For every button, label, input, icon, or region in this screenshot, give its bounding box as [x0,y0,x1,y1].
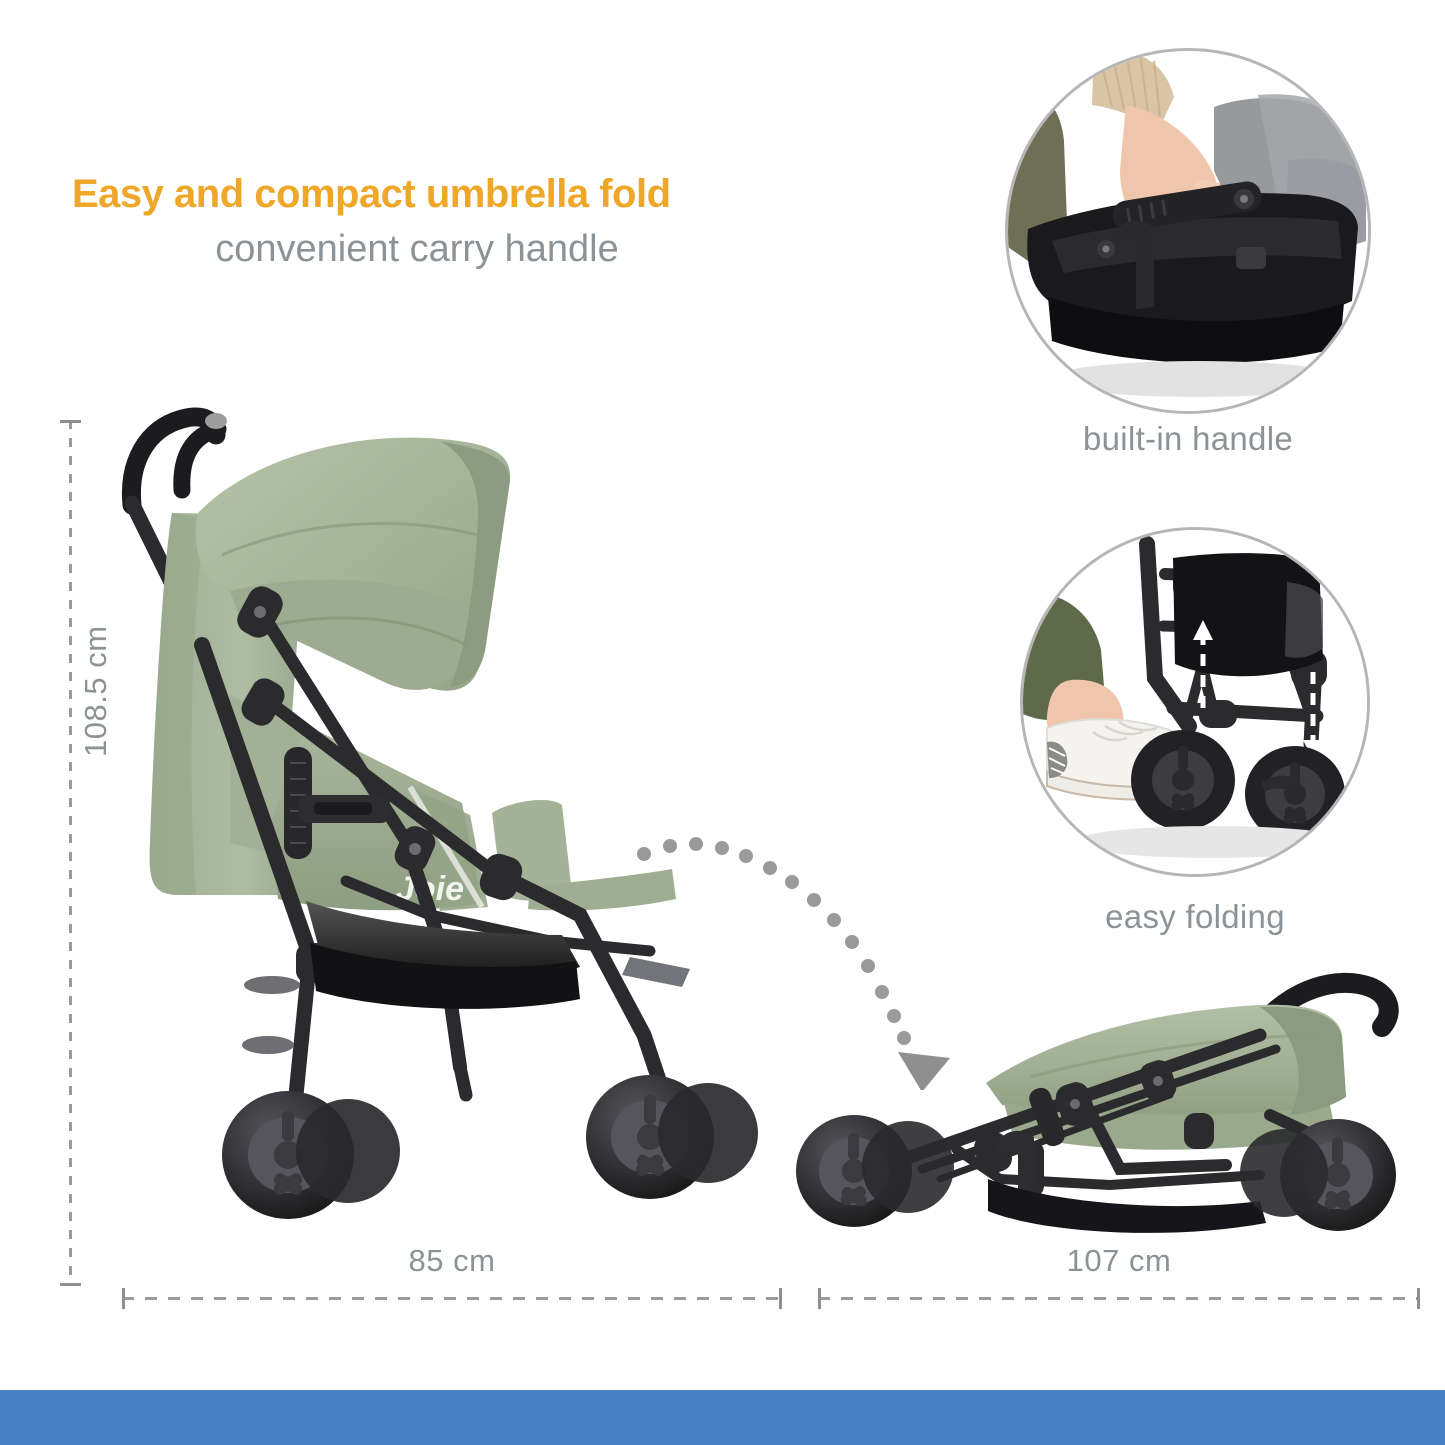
caption-built-in-handle: built-in handle [1000,420,1376,458]
caption-easy-folding: easy folding [1020,898,1370,936]
inset-built-in-handle [1005,48,1371,414]
folded-width-dimension-line [818,1297,1420,1300]
dimension-cap-top [60,420,81,423]
brake-pedal-front [242,1036,294,1054]
page-title: Easy and compact umbrella fold [72,172,832,216]
handle-bars [131,417,218,505]
dimension-cap-left [818,1288,821,1309]
height-dimension-line [69,420,72,1286]
open-width-dimension-label: 85 cm [122,1243,782,1279]
page-subtitle: convenient carry handle [72,226,762,274]
stroller-folded-side-view [790,965,1410,1240]
inset-easy-folding [1020,527,1370,877]
dimension-cap-left [122,1288,125,1309]
infographic-canvas: Easy and compact umbrella fold convenien… [0,0,1445,1445]
folded-wheel-front [796,1115,954,1227]
height-dimension-label: 108.5 cm [78,625,114,757]
wheel-front [222,1091,400,1219]
open-width-dimension-line [122,1297,782,1300]
brake-pedal-rear [244,976,300,994]
folded-width-dimension-label: 107 cm [818,1243,1420,1279]
handle-end-cap [205,413,227,429]
wheel-rear [586,1075,758,1199]
inset-wheel-left [1131,730,1235,830]
dimension-cap-right [779,1288,782,1309]
dimension-cap-right [1417,1288,1420,1309]
headline-block: Easy and compact umbrella fold convenien… [72,172,832,274]
bottom-brand-bar [0,1390,1445,1445]
dimension-cap-bottom [60,1283,81,1286]
